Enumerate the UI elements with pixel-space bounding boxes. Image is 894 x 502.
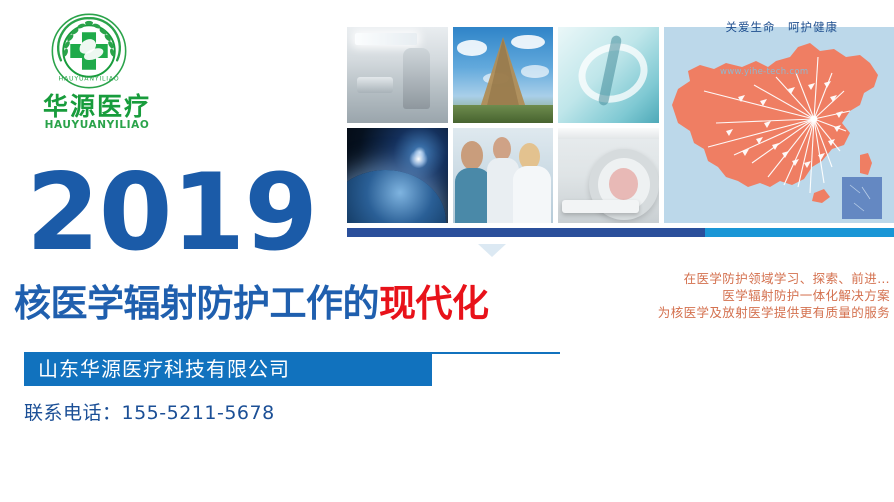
company-logo: HAUYUANYILIAO 华源医疗 HAUYUANYILIAO	[22, 12, 162, 132]
slide-canvas: HAUYUANYILIAO 华源医疗 HAUYUANYILIAO	[0, 0, 894, 502]
divider-bar-dark	[347, 228, 705, 237]
medical-equipment-photo	[558, 27, 659, 123]
medical-cross-laurel-emblem-icon: HAUYUANYILIAO	[50, 12, 128, 90]
china-map-icon	[664, 27, 894, 223]
earth-from-space-photo	[347, 128, 448, 224]
company-name-bar: 山东华源医疗科技有限公司	[24, 352, 432, 386]
slogan-line-2: 医学辐射防护一体化解决方案	[640, 287, 890, 304]
year-heading: 2019	[26, 160, 317, 266]
contact-phone: 联系电话：155-5211-5678	[24, 398, 275, 425]
slogan-block: 在医学防护领域学习、探索、前进… 医学辐射防护一体化解决方案 为核医学及放射医学…	[640, 270, 890, 321]
headline-highlight: 现代化	[379, 282, 489, 325]
operating-room-photo	[347, 27, 448, 123]
emblem-arc-text: HAUYUANYILIAO	[59, 76, 120, 83]
slogan-line-3: 为核医学及放射医学提供更有质量的服务	[640, 304, 890, 321]
doctors-with-patient-photo	[453, 128, 554, 224]
company-bar-rule	[432, 352, 560, 354]
header-tagline: 关爱生命 呵护健康	[726, 19, 839, 35]
down-triangle-icon	[478, 244, 506, 257]
photo-collage	[347, 27, 659, 223]
china-distribution-map: www.yihe-tech.com	[664, 27, 894, 223]
company-name: 山东华源医疗科技有限公司	[38, 358, 290, 380]
headline-main: 核医学辐射防护工作的	[14, 282, 379, 325]
divider-bar-light	[705, 228, 894, 237]
logo-brand-cn: 华源医疗	[32, 94, 162, 119]
map-url-watermark: www.yihe-tech.com	[720, 67, 808, 77]
slogan-line-1: 在医学防护领域学习、探索、前进…	[640, 270, 890, 287]
ct-scanner-photo	[558, 128, 659, 224]
logo-brand-en: HAUYUANYILIAO	[32, 120, 162, 131]
eiffel-tower-photo	[453, 27, 554, 123]
page-title: 核医学辐射防护工作的现代化	[14, 285, 489, 322]
